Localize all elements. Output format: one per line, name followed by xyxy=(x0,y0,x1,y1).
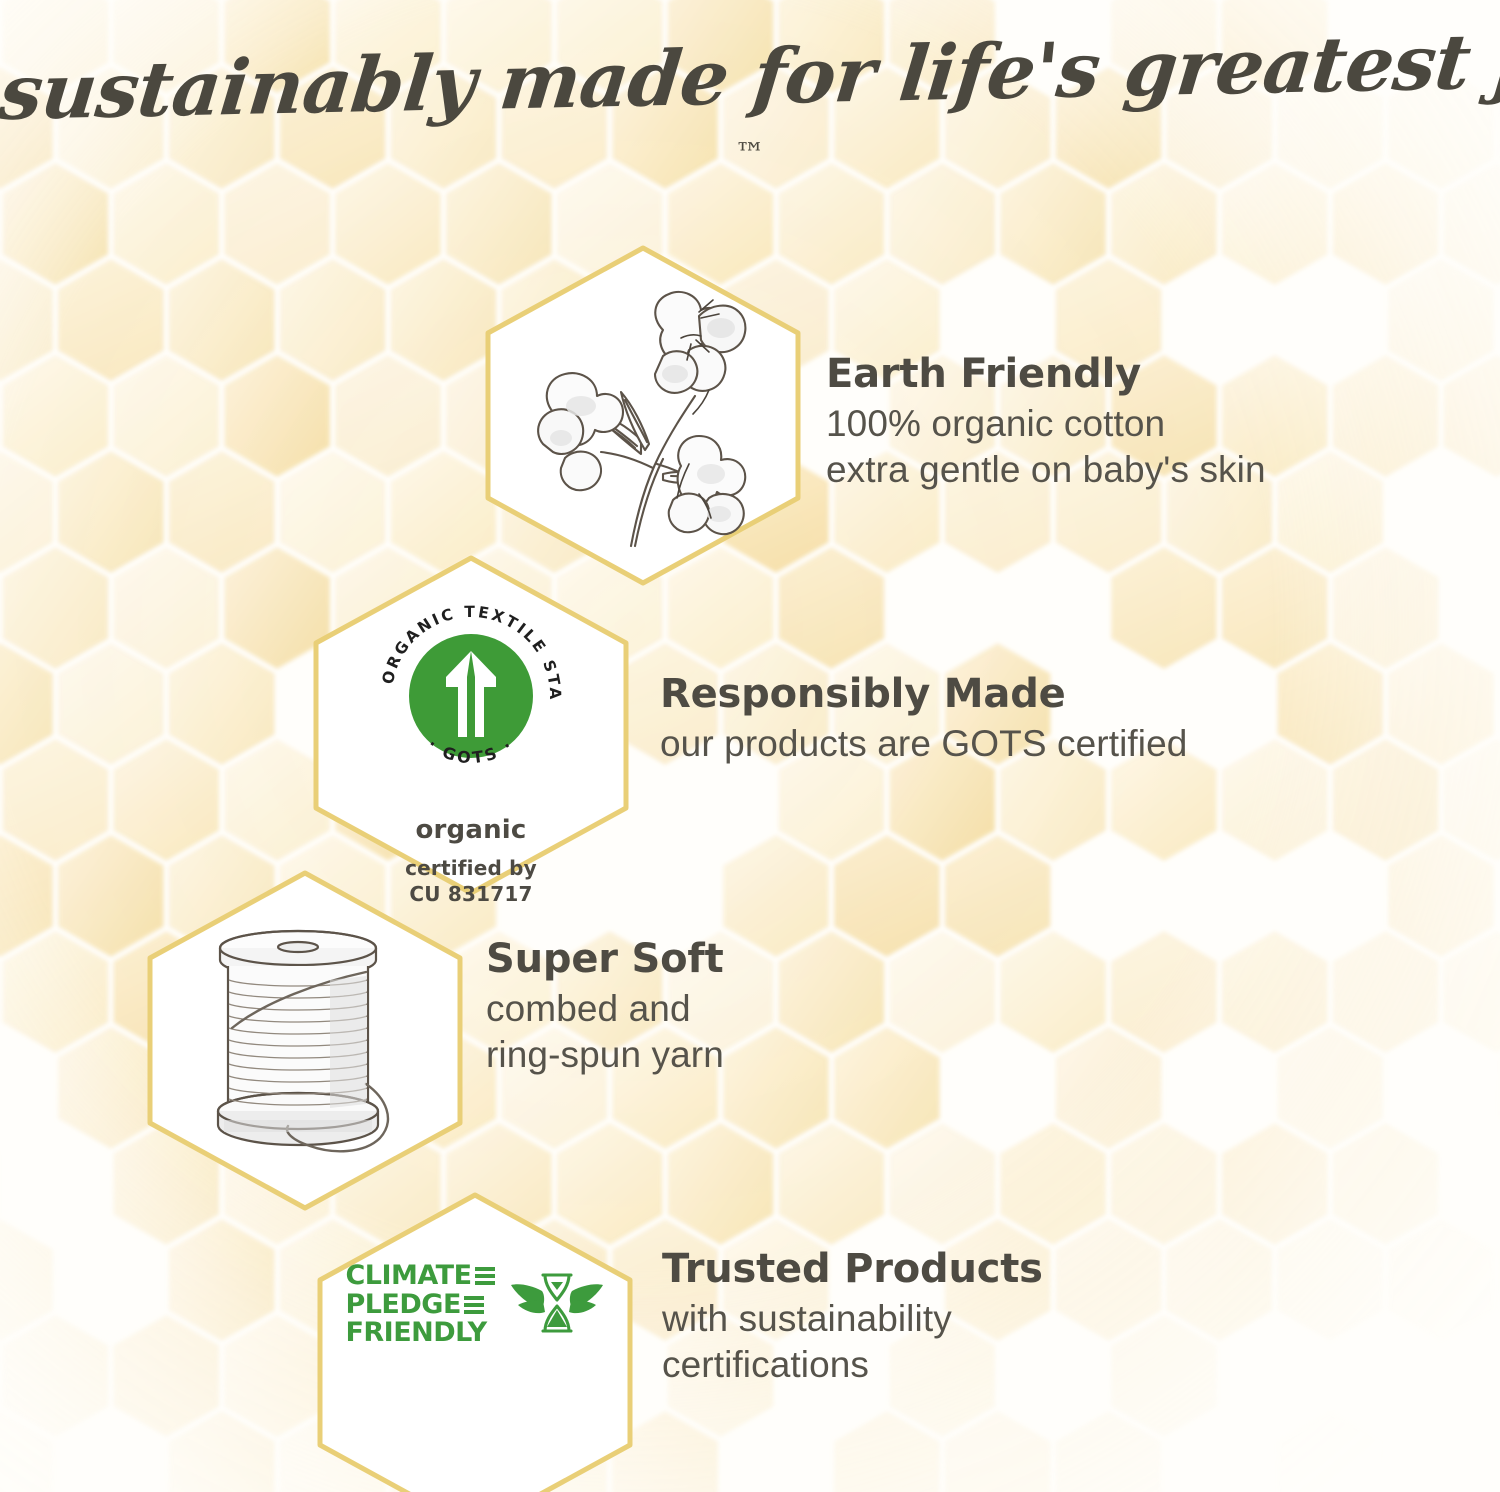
cpf-bars-icon xyxy=(475,1267,495,1285)
sustainability-infographic: sustainably made for life's greatest joy… xyxy=(0,0,1500,1492)
winged-hourglass-icon xyxy=(509,1267,605,1343)
page-title: sustainably made for life's greatest joy xyxy=(0,14,1500,137)
feature-title: Trusted Products xyxy=(662,1247,1043,1292)
feature-text-super-soft: Super Soft combed and ring-spun yarn xyxy=(486,937,724,1079)
climate-pledge-wordmark: CLIMATE PLEDGE FRIENDLY xyxy=(345,1262,494,1348)
cpf-line-1: CLIMATE xyxy=(345,1262,471,1291)
hexagon-card-earth-friendly xyxy=(478,243,808,588)
gots-seal-icon: GLOBAL ORGANIC TEXTILE STANDARD · GOTS · xyxy=(366,591,576,801)
climate-pledge-friendly-icon: CLIMATE PLEDGE FRIENDLY xyxy=(345,1262,604,1348)
feature-line: certifications xyxy=(662,1342,1043,1389)
hexagon-card-responsibly-made: GLOBAL ORGANIC TEXTILE STANDARD · GOTS ·… xyxy=(306,553,636,898)
hexagon-card-trusted-products: CLIMATE PLEDGE FRIENDLY xyxy=(310,1190,640,1492)
cotton-branch-icon xyxy=(513,278,773,553)
cpf-bars-icon xyxy=(464,1296,484,1314)
feature-line: ring-spun yarn xyxy=(486,1032,724,1079)
feature-line: extra gentle on baby's skin xyxy=(826,447,1266,494)
feature-title: Earth Friendly xyxy=(826,352,1266,397)
feature-line: 100% organic cotton xyxy=(826,401,1266,448)
cpf-line-3: FRIENDLY xyxy=(345,1319,486,1348)
feature-title: Super Soft xyxy=(486,937,724,982)
feature-line: combed and xyxy=(486,986,724,1033)
thread-spool-icon xyxy=(180,906,430,1176)
headline-banner: sustainably made for life's greatest joy… xyxy=(0,48,1500,175)
cpf-line-2: PLEDGE xyxy=(345,1291,460,1320)
trademark-symbol: ™ xyxy=(735,137,765,172)
hexagon-card-super-soft xyxy=(140,868,470,1213)
feature-line: our products are GOTS certified xyxy=(660,721,1187,768)
feature-text-earth-friendly: Earth Friendly 100% organic cotton extra… xyxy=(826,352,1266,494)
gots-certification-icon: GLOBAL ORGANIC TEXTILE STANDARD · GOTS ·… xyxy=(366,591,576,907)
feature-line: with sustainability xyxy=(662,1296,1043,1343)
feature-text-responsibly-made: Responsibly Made our products are GOTS c… xyxy=(660,672,1187,767)
gots-organic-label: organic xyxy=(415,815,526,845)
feature-title: Responsibly Made xyxy=(660,672,1187,717)
feature-text-trusted-products: Trusted Products with sustainability cer… xyxy=(662,1247,1043,1389)
